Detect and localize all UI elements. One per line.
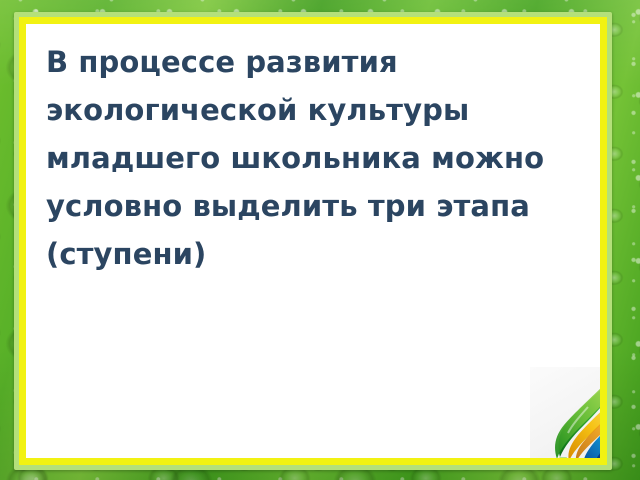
colorful-ribbon-graphic	[530, 367, 600, 458]
slide-frame-outer: В процессе развития экологической культу…	[14, 12, 612, 470]
slide-canvas: В процессе развития экологической культу…	[0, 0, 640, 480]
slide-frame-yellow: В процессе развития экологической культу…	[19, 17, 607, 465]
slide-body-text: В процессе развития экологической культу…	[46, 38, 576, 278]
slide-content-panel: В процессе развития экологической культу…	[26, 24, 600, 458]
